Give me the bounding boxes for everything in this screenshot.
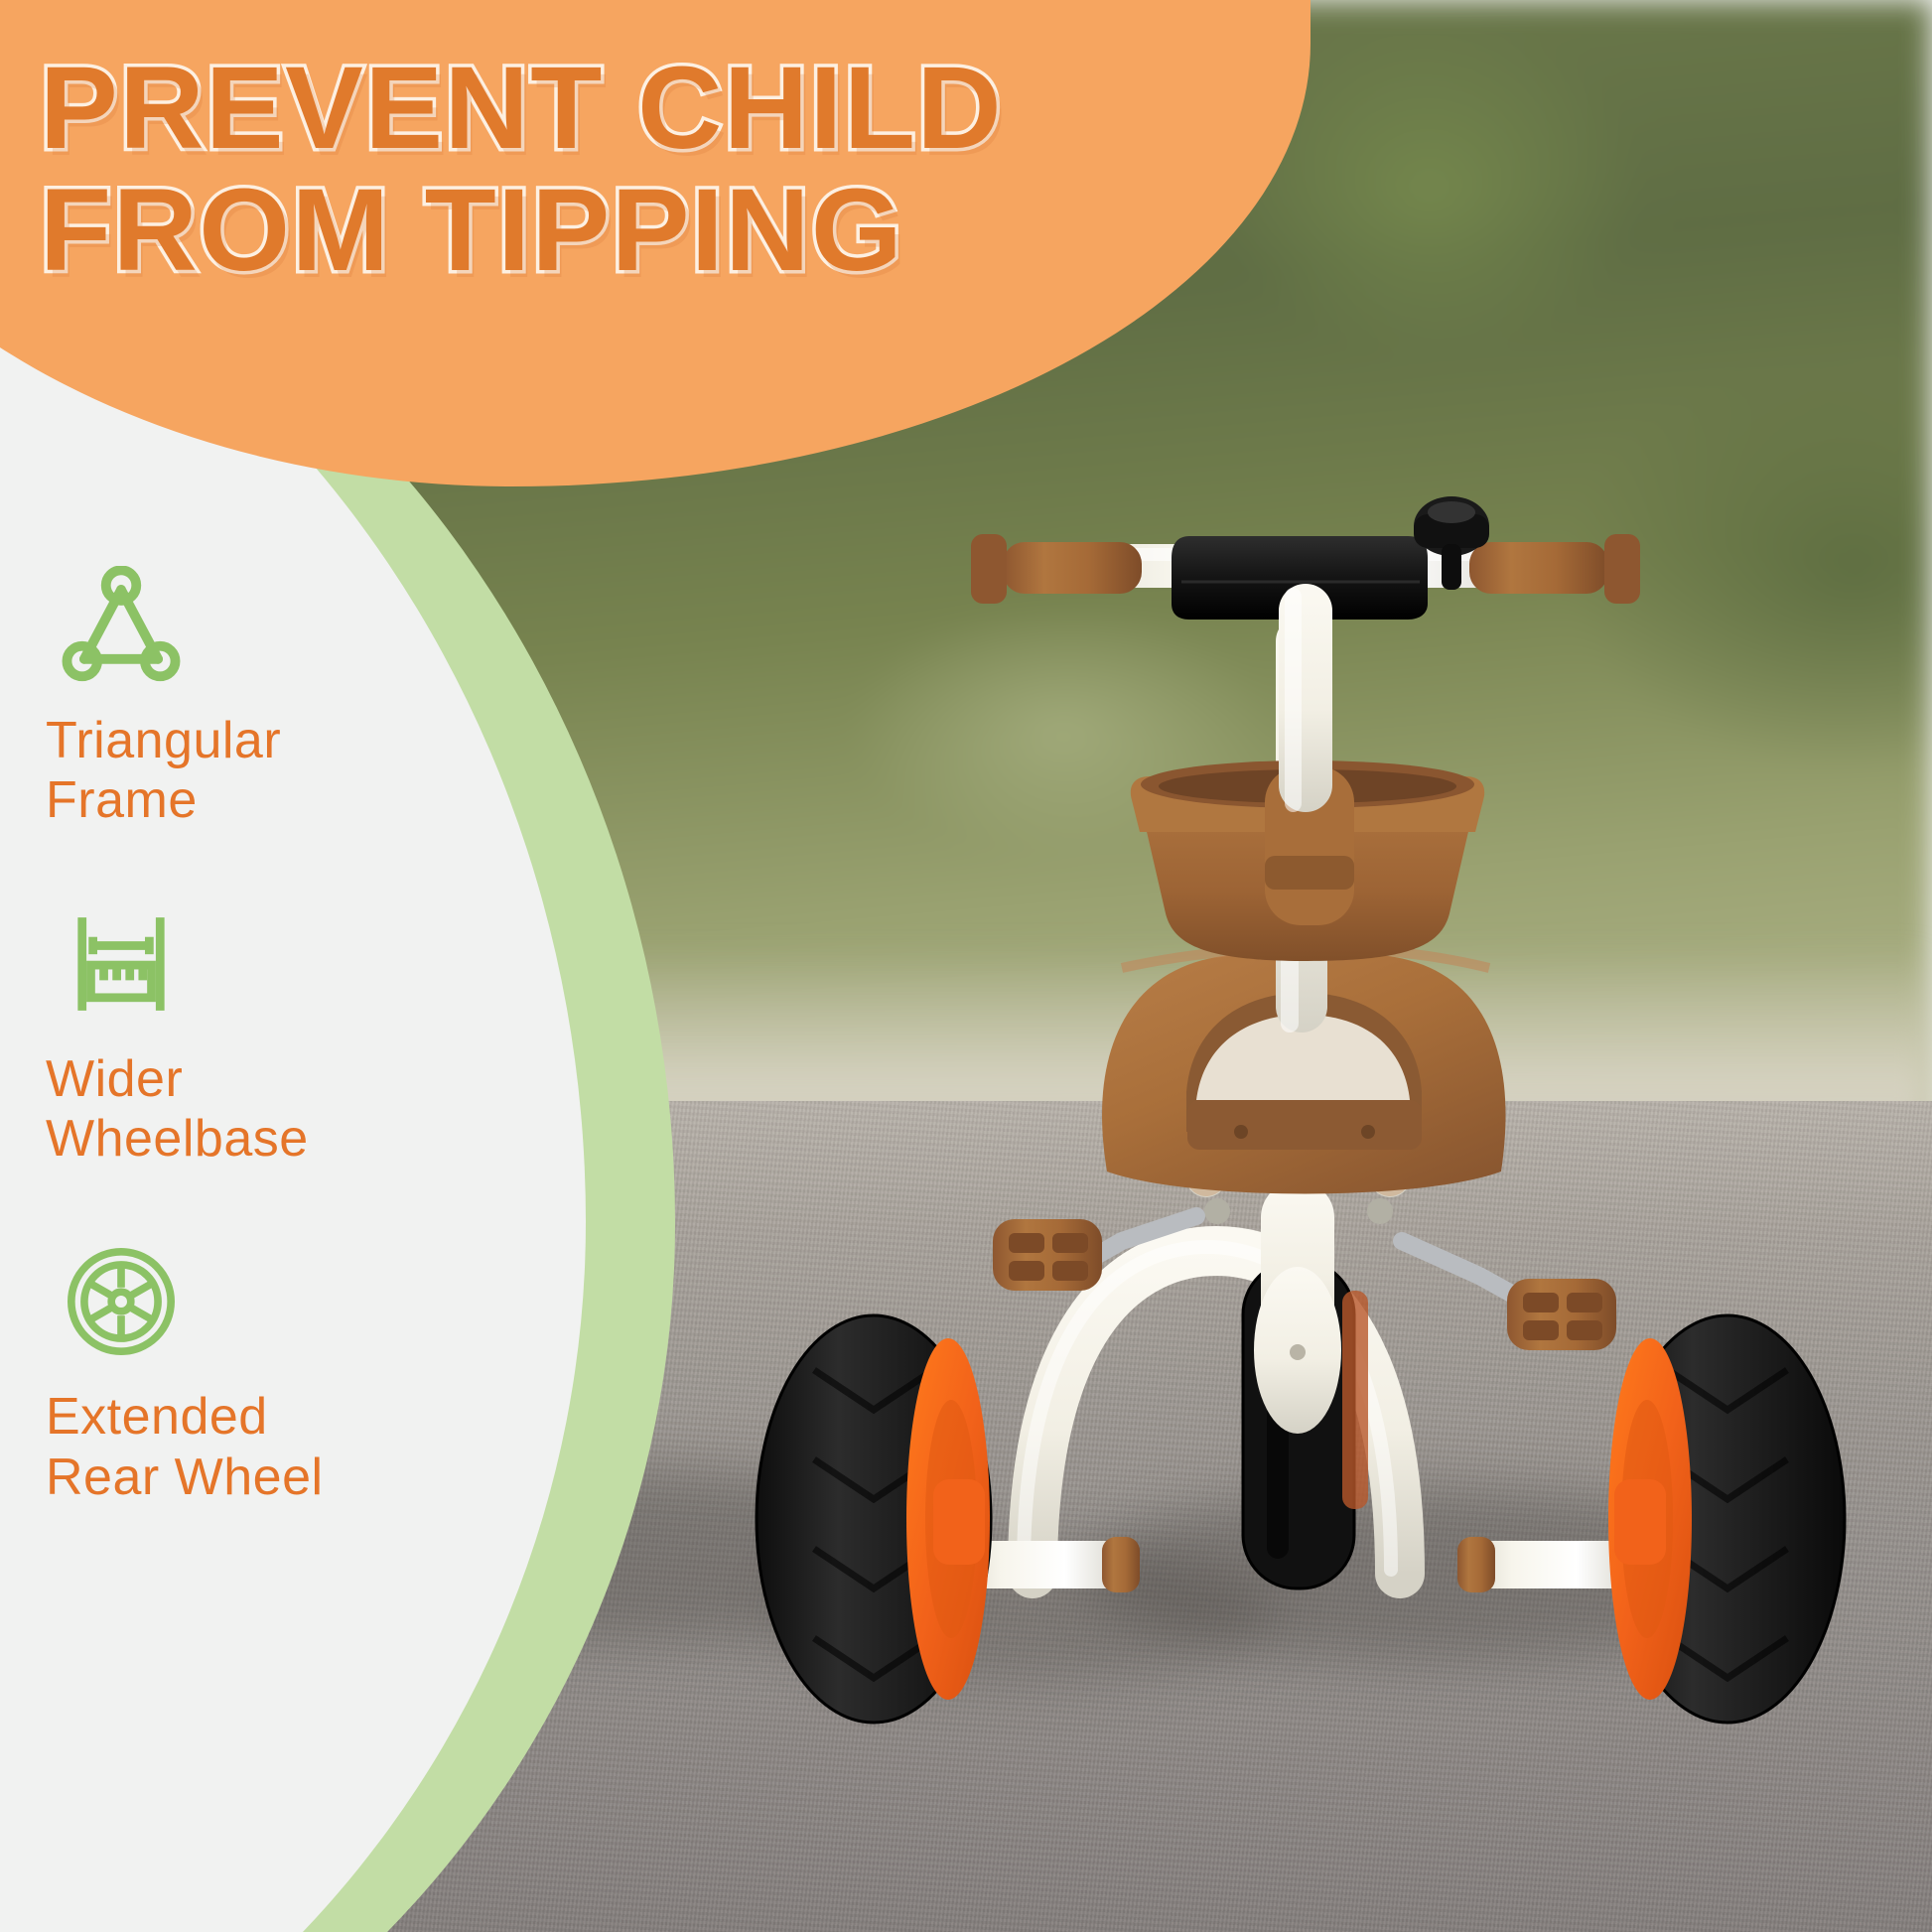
wheel-spokes-icon [52,1242,191,1361]
headline: PREVENT CHILD FROM TIPPING [40,48,1221,291]
triangular-frame-icon [52,566,191,685]
left-axle-cap [1102,1537,1140,1592]
right-grip-end [1604,534,1640,604]
left-grip [1003,542,1142,594]
feature-label-extended-rear-wheel: Extended Rear Wheel [46,1387,443,1507]
feature-list: Triangular Frame Wider Wheelbase [46,566,443,1581]
feature-item-wider-wheelbase: Wider Wheelbase [46,904,443,1170]
left-grip-end [971,534,1007,604]
rear-wheel-left [757,1315,991,1723]
feature-label-wider-wheelbase: Wider Wheelbase [46,1049,443,1170]
feature-item-triangular-frame: Triangular Frame [46,566,443,831]
feature-item-extended-rear-wheel: Extended Rear Wheel [46,1242,443,1507]
wheelbase-measure-icon [52,904,191,1024]
rear-wheel-right [1608,1315,1845,1723]
left-pedal [993,1219,1102,1291]
right-axle-cap [1457,1537,1495,1592]
headline-line-1: PREVENT CHILD [40,48,1221,170]
right-grip [1469,542,1608,594]
product-feature-banner: PREVENT CHILD FROM TIPPING Triangular Fr… [0,0,1932,1932]
right-crank [1402,1241,1524,1301]
right-pedal [1507,1279,1616,1350]
headline-line-2: FROM TIPPING [40,170,1221,292]
feature-label-triangular-frame: Triangular Frame [46,711,443,831]
